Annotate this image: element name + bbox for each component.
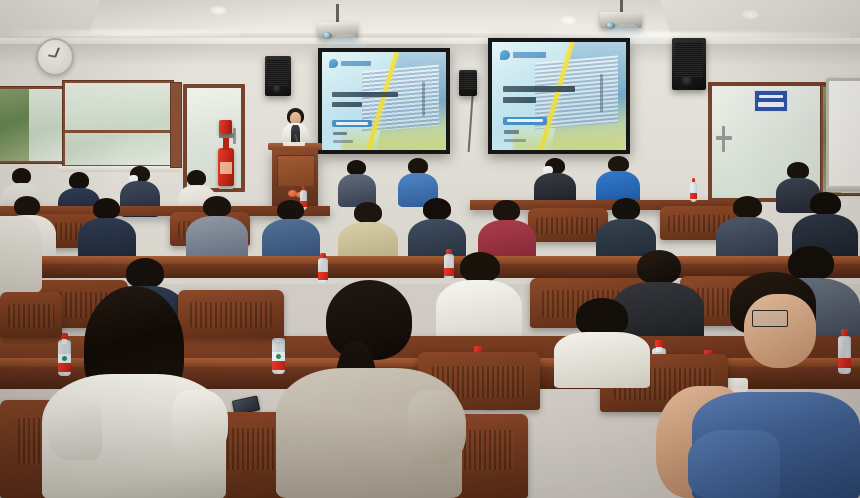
window <box>0 86 68 164</box>
attendee-hair <box>93 198 120 219</box>
attendee-hair <box>460 252 500 282</box>
ceiling-recess <box>90 0 670 34</box>
attendee-front-left <box>42 286 226 498</box>
door-push-bar[interactable] <box>716 136 732 140</box>
wall-speaker <box>265 56 291 96</box>
bottle-label <box>318 272 328 280</box>
attendee-hair <box>608 156 629 172</box>
attendee-arm <box>408 390 466 464</box>
organization-logo-icon <box>329 59 338 68</box>
bottle-label <box>690 193 697 199</box>
attendee-hair <box>787 162 809 179</box>
window-post <box>170 82 182 168</box>
slide-date-label <box>333 140 353 143</box>
extinguisher-upper <box>219 120 232 134</box>
attendee-hair <box>810 192 841 215</box>
attendee <box>0 216 42 292</box>
slide-vertical-caption <box>422 82 425 116</box>
slide-vertical-caption <box>600 74 603 112</box>
attendee-front-right <box>656 272 860 498</box>
slide-title-line-1 <box>503 86 575 92</box>
podium-panel <box>277 155 315 187</box>
attendee <box>78 198 136 260</box>
speaker-grille <box>267 59 289 86</box>
attendee-hair <box>612 198 640 220</box>
slide-presenter-label <box>504 130 519 134</box>
attendee-head <box>744 294 816 368</box>
projection-screen-surface <box>322 52 446 150</box>
attendee-hair <box>326 280 412 360</box>
extinguisher-neck <box>223 138 229 150</box>
slide-chip <box>332 120 372 127</box>
downlight <box>742 10 759 19</box>
slide-title-line-2 <box>503 97 536 103</box>
attendee-hair <box>203 196 231 217</box>
conference-room-photo <box>0 0 860 498</box>
door-sign-text <box>758 102 784 107</box>
attendee <box>554 298 650 384</box>
projection-screen-surface <box>492 42 626 150</box>
downlight <box>560 16 577 25</box>
window-foliage <box>0 89 29 161</box>
bottle-cap <box>302 186 306 190</box>
attendee-hair <box>69 172 89 189</box>
attendee-front-center <box>276 280 462 498</box>
wall-speaker <box>672 38 706 90</box>
attendee <box>534 158 576 206</box>
attendee-hair <box>493 200 520 221</box>
bottle-body <box>690 182 697 202</box>
speaker-grille <box>675 42 704 77</box>
attendee-hair <box>347 160 366 175</box>
extinguisher-label <box>220 162 232 174</box>
water-bottle <box>690 182 697 202</box>
speaker-driver <box>272 85 283 93</box>
bottle-cap <box>692 178 696 182</box>
slide-foliage <box>513 124 623 150</box>
attendee-hair <box>187 170 206 186</box>
projection-screen <box>488 38 630 154</box>
attendee-body <box>554 332 650 388</box>
podium-papers <box>283 142 305 146</box>
attendee-arm <box>48 400 102 460</box>
attendee-hair <box>12 168 31 184</box>
slide-chip-label <box>507 119 543 122</box>
projector-lens <box>605 22 615 29</box>
wall-clock-icon <box>36 38 74 76</box>
slide-chip <box>503 117 547 125</box>
slide-title-line-2 <box>332 102 362 107</box>
attendee-hair <box>423 198 451 220</box>
attendee-sleeve <box>688 430 780 498</box>
whiteboard-tray <box>826 186 860 191</box>
slide-presenter-label <box>333 132 347 135</box>
organization-logo-text <box>513 52 546 58</box>
slide-date-label <box>504 139 526 142</box>
attendee <box>262 200 320 262</box>
attendee-hair <box>277 200 304 220</box>
door-sign-text <box>759 95 783 98</box>
eyeglasses <box>752 310 788 327</box>
attendee-hair <box>576 298 628 336</box>
attendee-hair <box>408 158 428 174</box>
chair-slats <box>536 217 600 234</box>
door-sign <box>754 90 788 112</box>
slide-foliage <box>342 126 444 150</box>
speaker-grille <box>460 72 475 90</box>
window <box>62 80 174 168</box>
fire-extinguisher <box>218 148 234 186</box>
speaker-driver <box>681 76 695 86</box>
attendee-hair <box>354 202 382 223</box>
attendee-hair <box>733 196 762 218</box>
projector-lens <box>322 32 332 39</box>
window-mullion <box>65 130 171 133</box>
attendee-hair <box>126 258 164 288</box>
wall-speaker <box>459 70 477 96</box>
organization-logo-icon <box>500 50 510 60</box>
attendee-hair <box>14 196 40 216</box>
organization-logo-text <box>341 61 371 66</box>
attendee-body <box>0 216 42 292</box>
downlight <box>210 6 227 15</box>
slide-chip-label <box>336 122 368 125</box>
attendee <box>338 160 376 206</box>
bottle-cap <box>320 253 326 258</box>
whiteboard <box>826 78 860 192</box>
projection-screen <box>318 48 450 154</box>
slide-title-line-1 <box>332 92 398 97</box>
attendee <box>186 196 248 260</box>
cove-light <box>10 30 240 37</box>
window-glass <box>65 83 171 165</box>
attendee-arm <box>172 390 228 456</box>
